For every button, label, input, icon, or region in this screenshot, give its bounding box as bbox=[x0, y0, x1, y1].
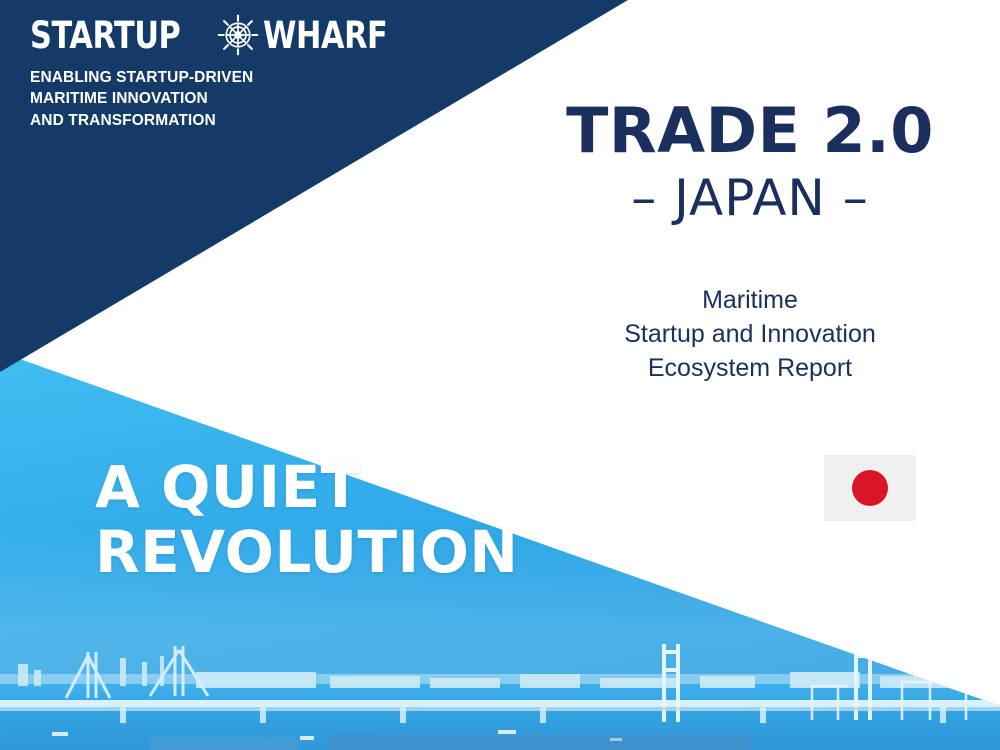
report-line-2: Startup and Innovation bbox=[520, 318, 980, 352]
report-line-3: Ecosystem Report bbox=[520, 352, 980, 386]
japan-flag-icon bbox=[824, 455, 916, 521]
logo-tagline: ENABLING STARTUP-DRIVEN MARITIME INNOVAT… bbox=[30, 67, 330, 131]
headline-line-1: A QUIET bbox=[95, 455, 695, 520]
ships-wheel-icon bbox=[217, 14, 259, 56]
report-country-subtitle: – JAPAN – bbox=[520, 171, 980, 226]
report-descriptor: Maritime Startup and Innovation Ecosyste… bbox=[520, 284, 980, 385]
japan-flag-disc bbox=[852, 470, 888, 506]
tagline-line-2: MARITIME INNOVATION bbox=[30, 88, 330, 109]
cover-headline: A QUIET REVOLUTION bbox=[95, 455, 695, 585]
headline-line-2: REVOLUTION bbox=[95, 520, 695, 585]
tagline-line-3: AND TRANSFORMATION bbox=[30, 110, 330, 131]
wordmark-wharf: WHARF bbox=[263, 17, 387, 54]
startup-wharf-logo: STARTUP bbox=[30, 12, 330, 131]
report-cover: STARTUP bbox=[0, 0, 1000, 750]
report-main-title: TRADE 2.0 bbox=[520, 98, 980, 163]
title-block: TRADE 2.0 – JAPAN – bbox=[520, 98, 980, 226]
report-line-1: Maritime bbox=[520, 284, 980, 318]
wordmark-startup: STARTUP bbox=[30, 17, 180, 54]
logo-wordmark: STARTUP bbox=[30, 12, 330, 58]
tagline-line-1: ENABLING STARTUP-DRIVEN bbox=[30, 67, 330, 88]
port-skyline-illustration bbox=[0, 600, 1000, 750]
